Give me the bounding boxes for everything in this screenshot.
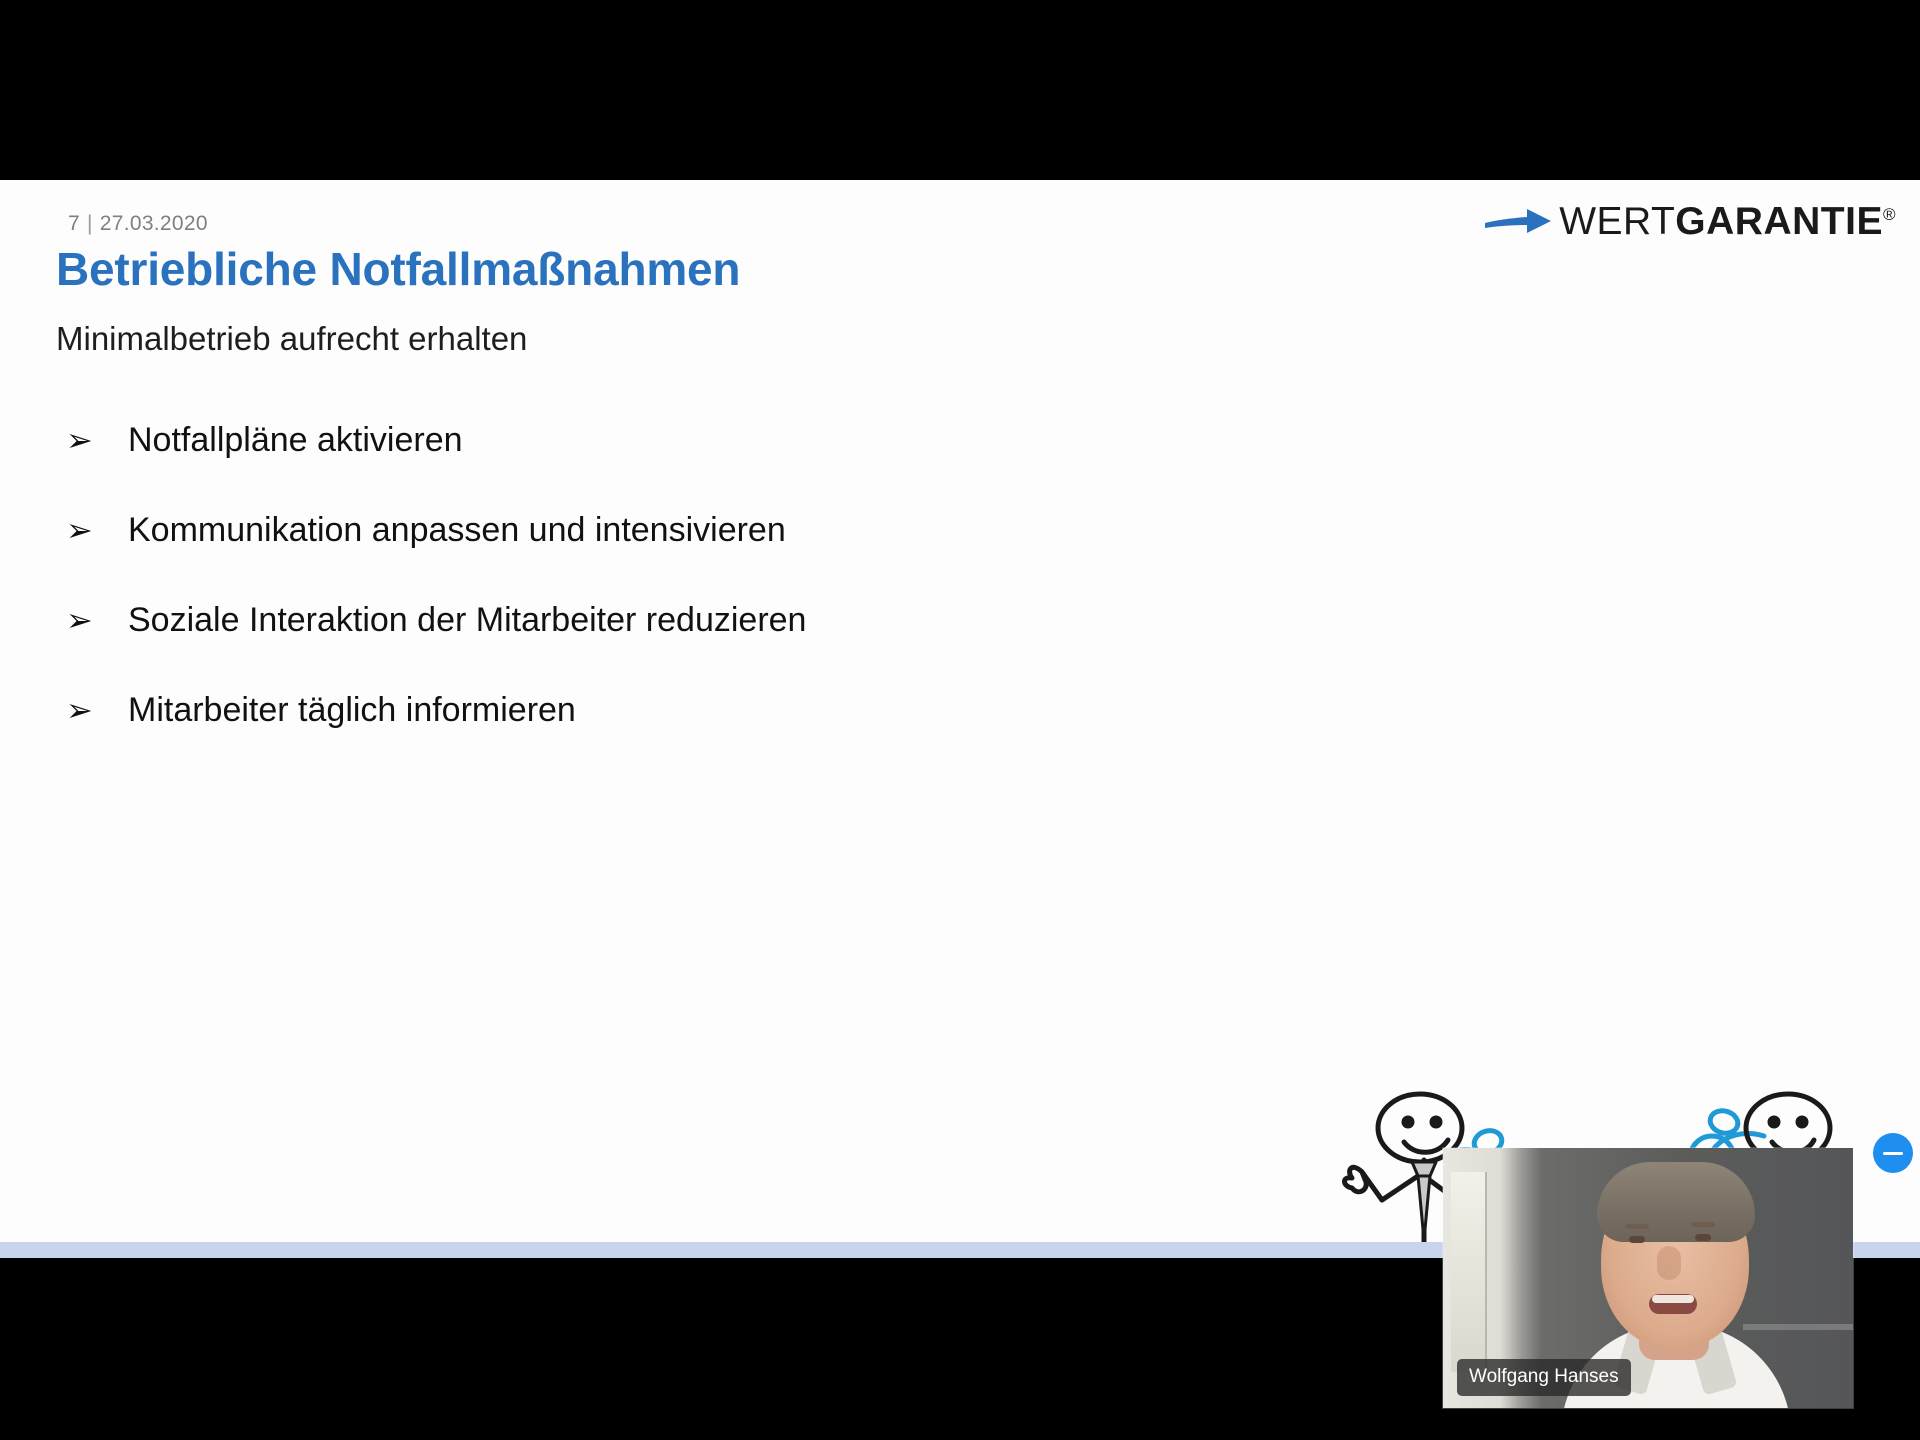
list-item: ➢ Mitarbeiter täglich informieren bbox=[56, 688, 1256, 778]
arrow-bullet-icon: ➢ bbox=[56, 508, 128, 552]
logo-text-wert: WERT bbox=[1559, 200, 1675, 243]
participant-eye-right bbox=[1695, 1234, 1711, 1241]
participant-name-label: Wolfgang Hanses bbox=[1457, 1359, 1631, 1396]
video-background-shelf bbox=[1743, 1324, 1853, 1330]
list-item-label: Mitarbeiter täglich informieren bbox=[128, 688, 576, 732]
right-arrow-icon bbox=[1483, 203, 1553, 239]
logo-registered-mark: ® bbox=[1883, 205, 1896, 224]
participant-teeth bbox=[1652, 1295, 1694, 1303]
minus-icon bbox=[1883, 1152, 1903, 1155]
list-item-label: Kommunikation anpassen und intensivieren bbox=[128, 508, 786, 552]
list-item: ➢ Kommunikation anpassen und intensivier… bbox=[56, 508, 1256, 598]
participant-eye-left bbox=[1629, 1236, 1645, 1243]
arrow-bullet-icon: ➢ bbox=[56, 688, 128, 732]
minimize-video-button[interactable] bbox=[1873, 1133, 1913, 1173]
slide-date: 27.03.2020 bbox=[100, 212, 208, 235]
arrow-bullet-icon: ➢ bbox=[56, 418, 128, 462]
arrow-bullet-icon: ➢ bbox=[56, 598, 128, 642]
presentation-slide: 7|27.03.2020 WERTGARANTIE® Betriebliche … bbox=[0, 180, 1920, 1258]
slide-meta-separator: | bbox=[80, 212, 100, 235]
participant-eyebrow-right bbox=[1691, 1222, 1715, 1227]
participant-eyebrow-left bbox=[1625, 1224, 1649, 1229]
slide-page-number: 7 bbox=[68, 212, 80, 235]
list-item: ➢ Notfallpläne aktivieren bbox=[56, 418, 1256, 508]
list-item: ➢ Soziale Interaktion der Mitarbeiter re… bbox=[56, 598, 1256, 688]
letterbox-top bbox=[0, 0, 1920, 180]
slide-meta: 7|27.03.2020 bbox=[68, 212, 208, 236]
video-background-window bbox=[1451, 1172, 1487, 1372]
bullet-list: ➢ Notfallpläne aktivieren ➢ Kommunikatio… bbox=[56, 418, 1256, 778]
list-item-label: Notfallpläne aktivieren bbox=[128, 418, 463, 462]
logo-text-garantie: GARANTIE bbox=[1675, 200, 1883, 243]
list-item-label: Soziale Interaktion der Mitarbeiter redu… bbox=[128, 598, 806, 642]
wertgarantie-logo: WERTGARANTIE® bbox=[1483, 194, 1896, 248]
participant-hair bbox=[1597, 1162, 1755, 1242]
slide-title: Betriebliche Notfallmaßnahmen bbox=[56, 242, 740, 296]
video-player-screen: 7|27.03.2020 WERTGARANTIE® Betriebliche … bbox=[0, 0, 1920, 1440]
logo-text: WERTGARANTIE® bbox=[1559, 202, 1896, 241]
participant-nose bbox=[1657, 1246, 1681, 1280]
slide-subtitle: Minimalbetrieb aufrecht erhalten bbox=[56, 320, 527, 358]
participant-video-tile[interactable]: Wolfgang Hanses bbox=[1443, 1148, 1853, 1408]
